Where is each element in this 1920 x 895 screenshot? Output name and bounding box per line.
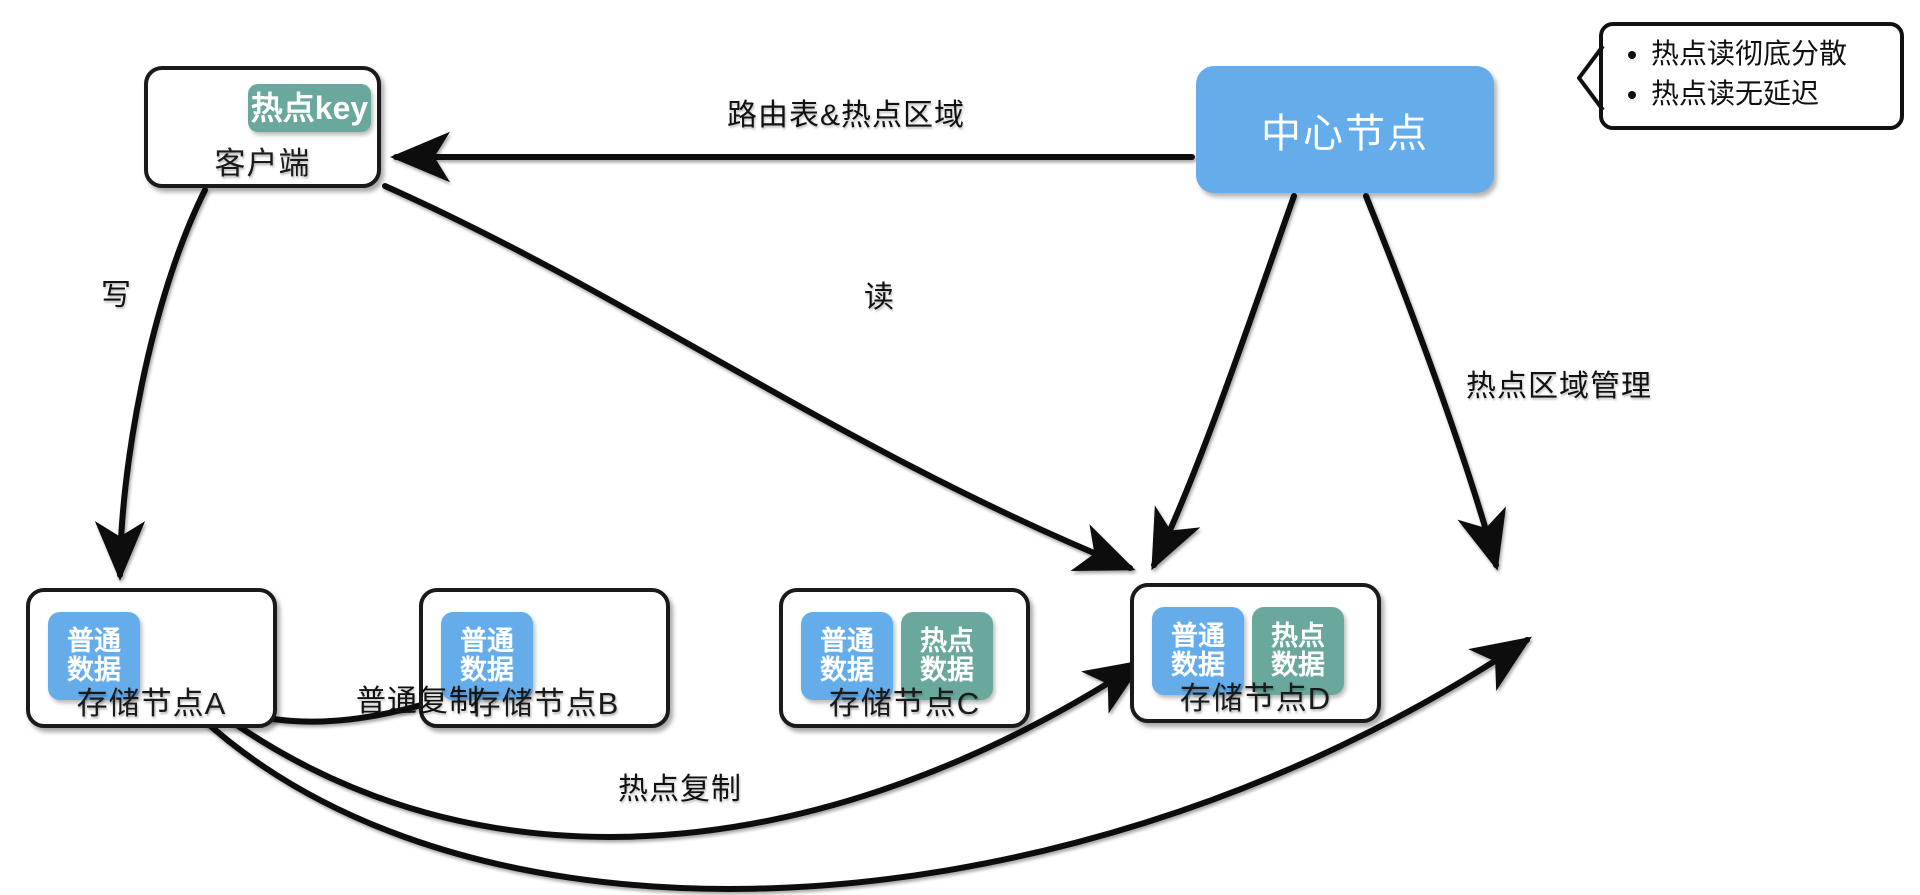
storage-node-a-label: 存储节点A <box>30 678 273 723</box>
edge-label-normal-replicate: 普通复制 <box>356 676 480 720</box>
edge-label-hotspot-replicate: 热点复制 <box>618 764 742 808</box>
edge-label-route: 路由表&热点区域 <box>727 90 965 134</box>
client-node-label: 客户端 <box>148 138 377 183</box>
badge-line-1: 热点 <box>1271 622 1325 651</box>
hotspot-key-badge-label: 热点key <box>251 91 368 126</box>
badge-line-1: 普通 <box>820 627 874 656</box>
edge-write <box>120 190 205 575</box>
callout-tail-icon <box>1577 44 1605 116</box>
callout-box: 热点读彻底分散 热点读无延迟 <box>1599 22 1904 130</box>
storage-node-a[interactable]: 普通 数据 存储节点A <box>26 588 277 728</box>
callout-bullet-2: 热点读无延迟 <box>1651 74 1896 114</box>
center-node[interactable]: 中心节点 <box>1196 66 1494 193</box>
storage-node-c[interactable]: 普通 数据 热点 数据 存储节点C <box>779 588 1030 728</box>
center-node-label: 中心节点 <box>1261 101 1429 159</box>
callout-bullet-1: 热点读彻底分散 <box>1651 34 1896 74</box>
badge-line-1: 普通 <box>1171 622 1225 651</box>
storage-node-d-label: 存储节点D <box>1134 673 1377 718</box>
badge-line-1: 普通 <box>67 627 121 656</box>
edge-read <box>385 186 1130 568</box>
hotspot-key-badge: 热点key <box>248 84 371 132</box>
badge-line-1: 热点 <box>920 627 974 656</box>
storage-node-d[interactable]: 普通 数据 热点 数据 存储节点D <box>1130 583 1381 723</box>
callout-list: 热点读彻底分散 热点读无延迟 <box>1629 34 1896 114</box>
edge-label-read: 读 <box>864 272 895 316</box>
client-node[interactable]: 热点key 客户端 <box>144 66 381 188</box>
diagram-canvas: 热点key 客户端 中心节点 热点读彻底分散 热点读无延迟 普通 数据 存储节点… <box>0 0 1920 895</box>
storage-node-c-label: 存储节点C <box>783 678 1026 723</box>
edge-center-to-c <box>1154 196 1294 565</box>
edge-label-hotspot-mgmt: 热点区域管理 <box>1466 361 1652 405</box>
edge-label-write: 写 <box>101 270 132 314</box>
badge-line-1: 普通 <box>460 627 514 656</box>
